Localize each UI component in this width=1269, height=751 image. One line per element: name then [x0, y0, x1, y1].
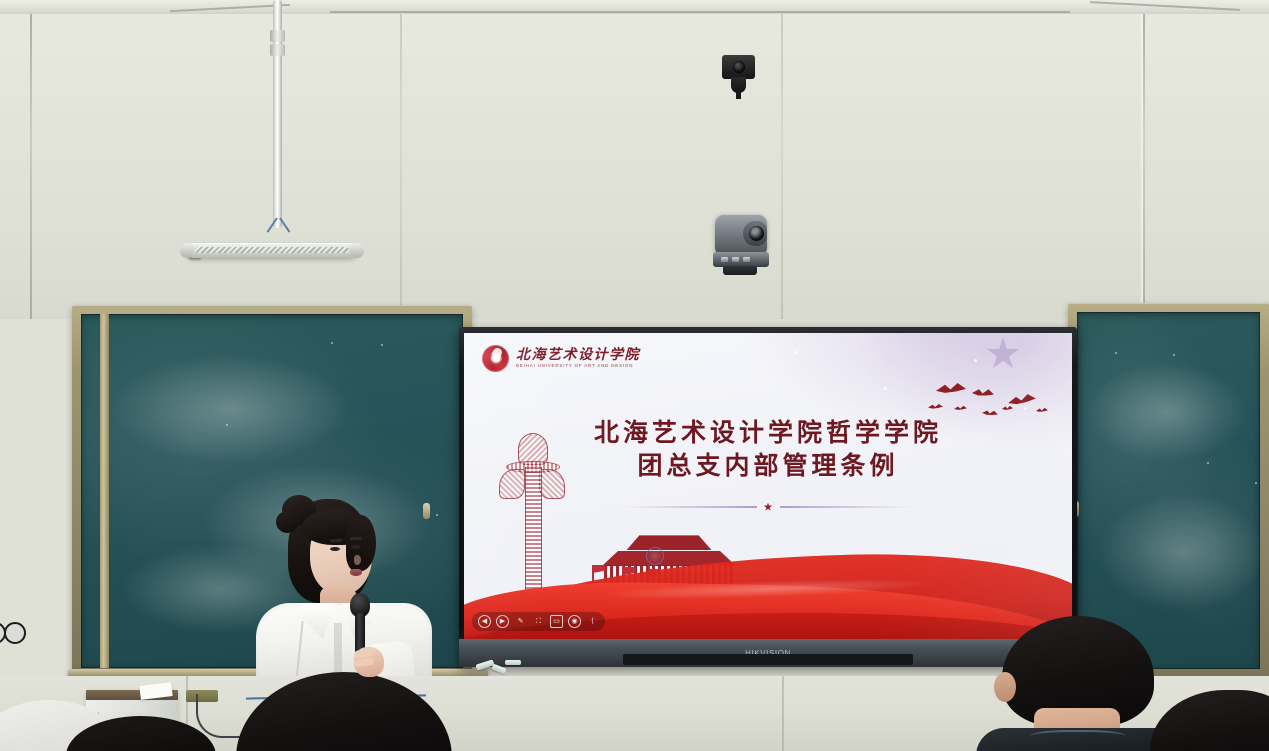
eyeglass-lens-right: [4, 622, 26, 644]
dove-icon-1: [936, 381, 966, 398]
lamp-wire-right: [279, 217, 290, 232]
lower-wall-seam-2: [782, 676, 784, 751]
lamp-wires: [268, 218, 288, 238]
lamp-cap-right: [350, 243, 364, 258]
wall-camera-lens-icon: [733, 61, 745, 73]
wall-camera: [722, 55, 755, 97]
ptz-camera-led-1: [721, 257, 728, 262]
lamp-cap-left: [180, 243, 194, 258]
audience-head-1: [236, 672, 452, 751]
audience-member-center: [236, 672, 452, 751]
wall-camera-stem: [736, 91, 741, 99]
presentation-slide: 北海艺术设计学院 BEIHAI UNIVERSITY OF ART AND DE…: [464, 333, 1072, 639]
display-screen[interactable]: 北海艺术设计学院 BEIHAI UNIVERSITY OF ART AND DE…: [464, 333, 1072, 639]
logo-text-block: 北海艺术设计学院 BEIHAI UNIVERSITY OF ART AND DE…: [516, 349, 640, 369]
lamp-wire-left: [267, 217, 278, 232]
tiananmen-roof-top: [616, 533, 722, 550]
dove-icon-5: [954, 405, 967, 412]
ptz-camera: [713, 214, 771, 276]
interactive-display[interactable]: 北海艺术设计学院 BEIHAI UNIVERSITY OF ART AND DE…: [459, 327, 1077, 667]
huabiao-wing-right: [539, 469, 565, 499]
presenter-eye-right: [351, 545, 361, 549]
whiteboard-button[interactable]: ▭: [550, 615, 563, 628]
laser-pointer-button[interactable]: ◉: [568, 615, 581, 628]
national-emblem-icon: [646, 547, 664, 565]
presentation-toolbar[interactable]: ◀ ▶ ✎ ⛶ ▭ ◉ ⟨: [472, 612, 605, 631]
ptz-camera-lens-icon: [749, 226, 764, 241]
slide-divider: [623, 500, 913, 514]
lamp-collar-mid: [270, 44, 285, 56]
ceiling-lamp: [264, 0, 290, 262]
logo-name-cn: 北海艺术设计学院: [516, 349, 640, 363]
wall-seam-2: [400, 14, 402, 319]
presenter-mouth: [350, 569, 362, 576]
wall-seam-4: [1143, 14, 1145, 319]
play-slide-button[interactable]: ▶: [496, 615, 509, 628]
display-chin: HIKVISION: [459, 639, 1077, 667]
dove-icon-7: [1002, 405, 1013, 412]
eyeglasses: [0, 622, 30, 652]
huabiao-wing-left: [499, 469, 525, 499]
audience-ear-2: [994, 672, 1016, 702]
lamp-bar: [187, 243, 357, 258]
wall-seam-1: [30, 14, 32, 319]
ptz-camera-bracket: [723, 266, 757, 275]
left-chalkboard-slide-rail[interactable]: [100, 314, 109, 668]
presenter-eye-left: [330, 547, 340, 551]
red-star-icon: [764, 503, 773, 512]
fullscreen-button[interactable]: ⛶: [532, 615, 545, 628]
upper-wall: [0, 14, 1269, 319]
dove-icon-3: [1007, 392, 1036, 410]
ceiling-rail-mid: [330, 11, 1070, 13]
presenter: [250, 495, 440, 695]
audience-member-far-right: [1150, 690, 1269, 751]
university-logo-icon: [482, 345, 509, 372]
dove-icon-2: [971, 386, 995, 402]
logo-name-en: BEIHAI UNIVERSITY OF ART AND DESIGN: [516, 364, 640, 369]
presenter-brow-right: [350, 537, 362, 540]
presenter-side-hair: [346, 515, 376, 571]
previous-slide-button[interactable]: ◀: [478, 615, 491, 628]
divider-line-left: [623, 506, 757, 508]
audience-collar-2: [1030, 730, 1126, 746]
divider-line-right: [780, 506, 914, 508]
display-io-slot: [623, 654, 913, 665]
ptz-camera-led-2: [732, 257, 739, 262]
chalk-piece-3[interactable]: [505, 660, 521, 665]
annotate-pen-button[interactable]: ✎: [514, 615, 527, 628]
classroom-scene: 北海艺术设计学院 BEIHAI UNIVERSITY OF ART AND DE…: [0, 0, 1269, 751]
audience-head-3: [1150, 690, 1269, 751]
ptz-camera-led-3: [743, 257, 750, 262]
collapse-toolbar-button[interactable]: ⟨: [586, 615, 599, 628]
dove-icon-4: [928, 403, 943, 411]
dove-icon-8: [1036, 407, 1048, 414]
audience-member-left-head: [66, 716, 216, 751]
presenter-hair-bun-small: [276, 511, 298, 533]
audience-head-5: [66, 716, 216, 751]
wall-seam-3: [781, 14, 783, 319]
slide-logo: 北海艺术设计学院 BEIHAI UNIVERSITY OF ART AND DE…: [482, 345, 640, 372]
lamp-collar-top: [270, 30, 285, 42]
huabiao-shaft: [525, 467, 542, 607]
